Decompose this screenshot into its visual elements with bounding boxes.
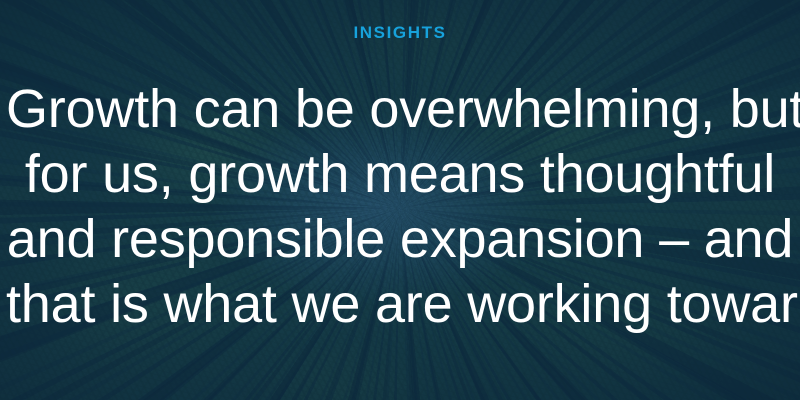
insights-quote-banner: INSIGHTS Growth can be overwhelming, but… xyxy=(0,0,800,400)
headline-line: for us, growth means thoughtful xyxy=(6,142,794,207)
banner-content: INSIGHTS Growth can be overwhelming, but… xyxy=(0,0,800,400)
headline-line: that is what we are working toward. xyxy=(6,272,794,337)
headline-quote: Growth can be overwhelming, but for us, … xyxy=(0,77,800,337)
headline-line: Growth can be overwhelming, but xyxy=(6,77,794,142)
eyebrow-label: INSIGHTS xyxy=(353,24,446,41)
headline-line: and responsible expansion – and xyxy=(6,207,794,272)
